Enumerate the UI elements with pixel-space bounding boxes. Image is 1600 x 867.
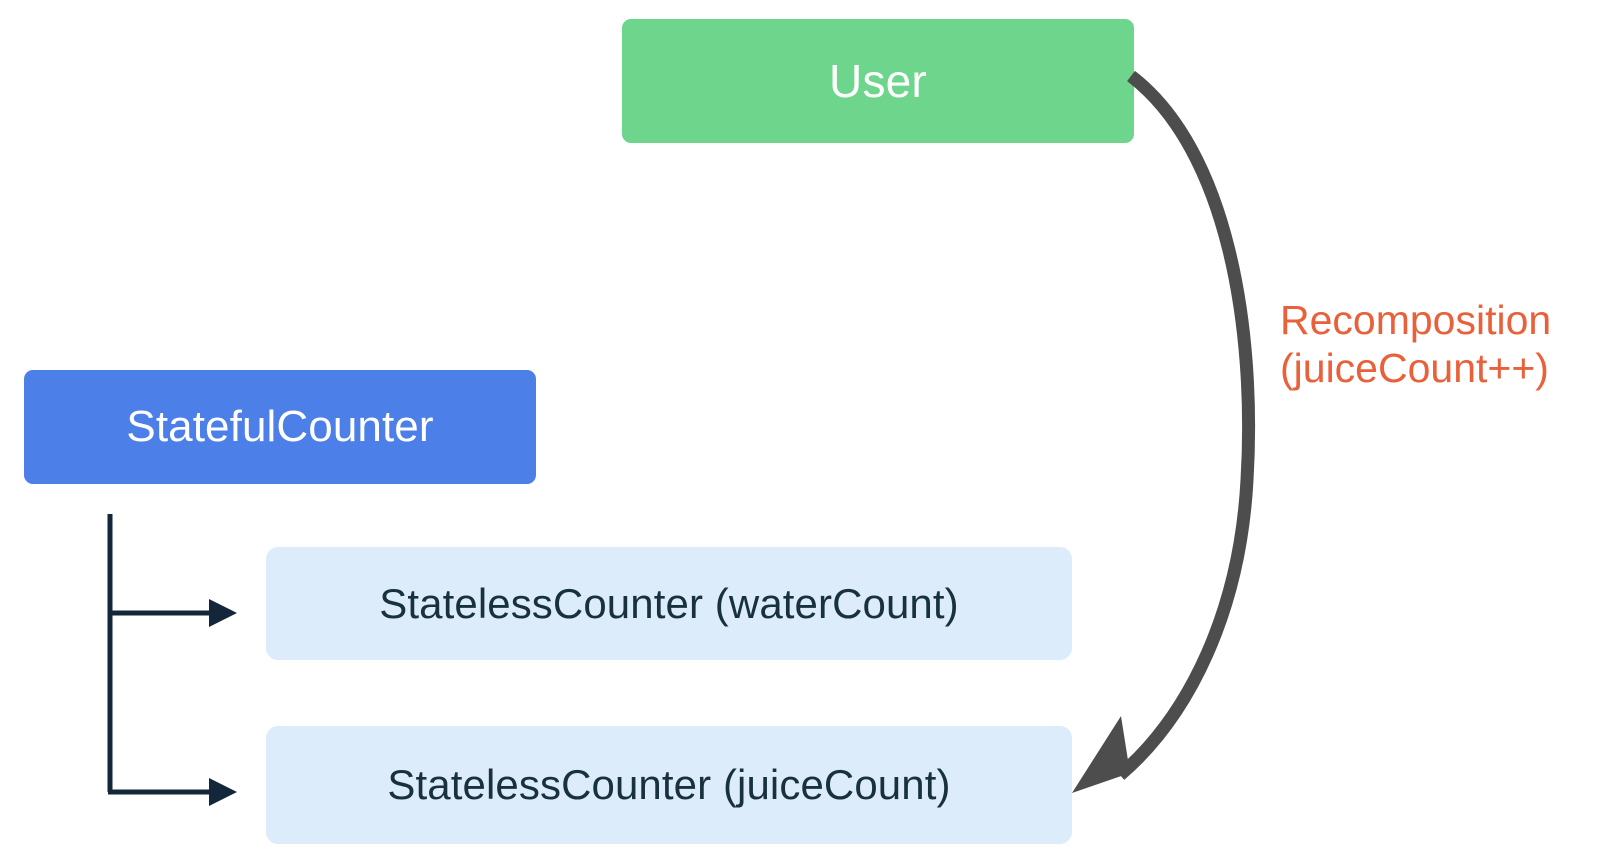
recomposition-arrowhead (1072, 716, 1130, 793)
node-stateless-water: StatelessCounter (waterCount) (266, 547, 1072, 660)
tree-branch-juice-arrowhead (209, 778, 237, 806)
node-stateful-counter-label: StatefulCounter (126, 402, 433, 452)
node-user-label: User (829, 54, 927, 108)
node-stateless-water-label: StatelessCounter (waterCount) (379, 580, 959, 628)
recomposition-annotation-line-1: Recomposition (1280, 296, 1551, 344)
tree-branch-water-arrowhead (209, 599, 237, 627)
recomposition-annotation-line-2: (juiceCount++) (1280, 344, 1551, 392)
recomposition-curve (1120, 76, 1249, 775)
tree-connector (108, 514, 237, 806)
recomposition-arrow (1072, 76, 1249, 793)
node-stateful-counter: StatefulCounter (24, 370, 536, 484)
node-stateless-juice: StatelessCounter (juiceCount) (266, 726, 1072, 844)
node-stateless-juice-label: StatelessCounter (juiceCount) (387, 761, 950, 809)
diagram-canvas: User StatefulCounter StatelessCounter (w… (0, 0, 1600, 867)
recomposition-annotation: Recomposition (juiceCount++) (1280, 296, 1551, 392)
node-user: User (622, 19, 1134, 143)
